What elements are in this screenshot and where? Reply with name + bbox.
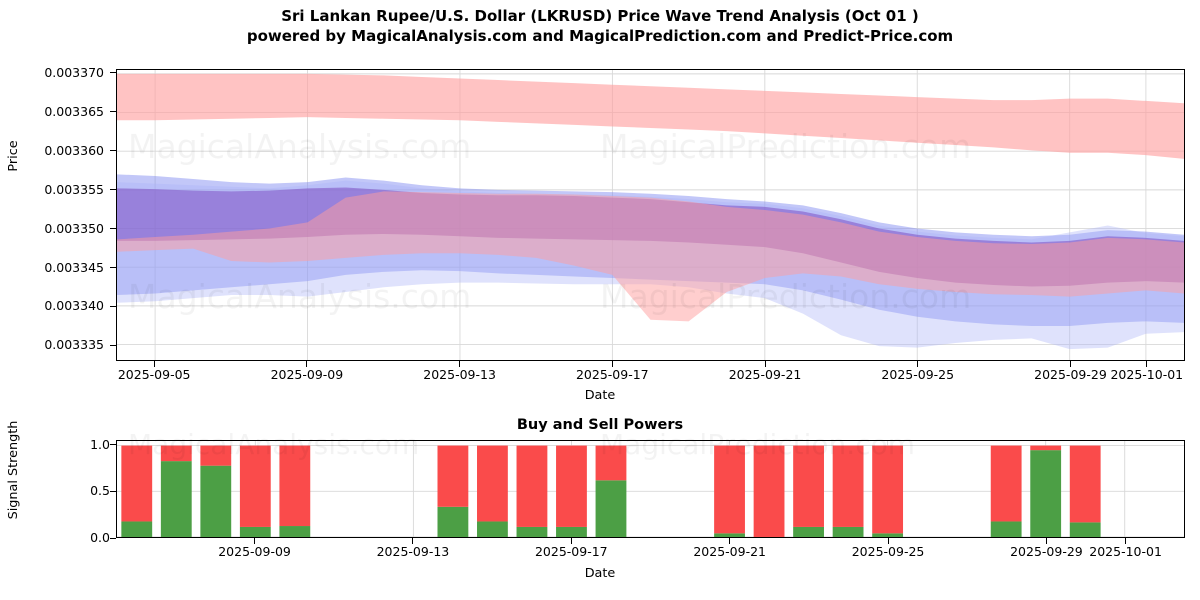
price-wave-plot	[116, 69, 1185, 361]
price-y-tick-mark	[110, 228, 116, 229]
price-y-tick-label: 0.003345	[4, 260, 104, 275]
signal-x-tick-label: 2025-09-25	[833, 544, 943, 559]
price-y-tick-label: 0.003350	[4, 221, 104, 236]
signal-x-tick-mark	[412, 538, 413, 544]
chart-title-line1: Sri Lankan Rupee/U.S. Dollar (LKRUSD) Pr…	[0, 6, 1200, 26]
price-x-tick-mark	[1146, 361, 1147, 367]
signal-x-tick-label: 2025-09-21	[675, 544, 785, 559]
price-y-tick-mark	[110, 150, 116, 151]
signal-x-tick-mark	[254, 538, 255, 544]
price-y-tick-mark	[110, 189, 116, 190]
signal-y-tick-mark	[110, 538, 116, 539]
signal-y-tick-mark	[110, 444, 116, 445]
price-x-tick-mark	[612, 361, 613, 367]
signal-y-tick-label: 0.5	[44, 483, 110, 498]
chart-page: Sri Lankan Rupee/U.S. Dollar (LKRUSD) Pr…	[0, 0, 1200, 600]
price-y-tick-label: 0.003355	[4, 182, 104, 197]
price-y-tick-mark	[110, 72, 116, 73]
buy-sell-powers-plot	[116, 440, 1185, 538]
price-x-tick-mark	[1070, 361, 1071, 367]
price-x-axis-label: Date	[0, 388, 1200, 403]
signal-chart-title: Buy and Sell Powers	[0, 417, 1200, 433]
signal-y-tick-label: 1.0	[44, 437, 110, 452]
price-wave-svg	[117, 70, 1184, 360]
signal-x-tick-mark	[571, 538, 572, 544]
price-x-tick-label: 2025-09-13	[405, 367, 515, 382]
chart-title-block: Sri Lankan Rupee/U.S. Dollar (LKRUSD) Pr…	[0, 6, 1200, 46]
price-x-tick-label: 2025-10-01	[1092, 367, 1200, 382]
buy-sell-powers-svg	[117, 441, 1184, 537]
price-x-tick-mark	[306, 361, 307, 367]
price-x-tick-mark	[459, 361, 460, 367]
signal-x-tick-mark	[1125, 538, 1126, 544]
signal-x-tick-mark	[888, 538, 889, 544]
signal-y-tick-label: 0.0	[44, 530, 110, 545]
price-x-tick-label: 2025-09-21	[710, 367, 820, 382]
price-x-tick-mark	[765, 361, 766, 367]
price-y-tick-mark	[110, 267, 116, 268]
price-x-tick-label: 2025-09-05	[99, 367, 209, 382]
price-x-tick-mark	[154, 361, 155, 367]
price-x-tick-label: 2025-09-17	[557, 367, 667, 382]
signal-x-axis-label: Date	[0, 566, 1200, 581]
signal-y-axis-label: Signal Strength	[6, 410, 21, 530]
signal-x-tick-label: 2025-09-09	[200, 544, 310, 559]
price-y-tick-label: 0.003370	[4, 65, 104, 80]
signal-x-tick-mark	[729, 538, 730, 544]
signal-x-tick-label: 2025-10-01	[1071, 544, 1181, 559]
price-y-tick-mark	[110, 111, 116, 112]
price-x-tick-mark	[917, 361, 918, 367]
price-x-tick-label: 2025-09-09	[252, 367, 362, 382]
signal-y-tick-mark	[110, 491, 116, 492]
price-y-tick-label: 0.003335	[4, 337, 104, 352]
price-y-tick-mark	[110, 306, 116, 307]
chart-title-line2: powered by MagicalAnalysis.com and Magic…	[0, 26, 1200, 46]
price-y-tick-label: 0.003340	[4, 298, 104, 313]
signal-x-tick-label: 2025-09-13	[358, 544, 468, 559]
price-y-tick-mark	[110, 345, 116, 346]
signal-x-tick-mark	[1046, 538, 1047, 544]
price-y-tick-label: 0.003360	[4, 143, 104, 158]
signal-x-tick-label: 2025-09-17	[516, 544, 626, 559]
price-x-tick-label: 2025-09-25	[863, 367, 973, 382]
price-y-tick-label: 0.003365	[4, 104, 104, 119]
